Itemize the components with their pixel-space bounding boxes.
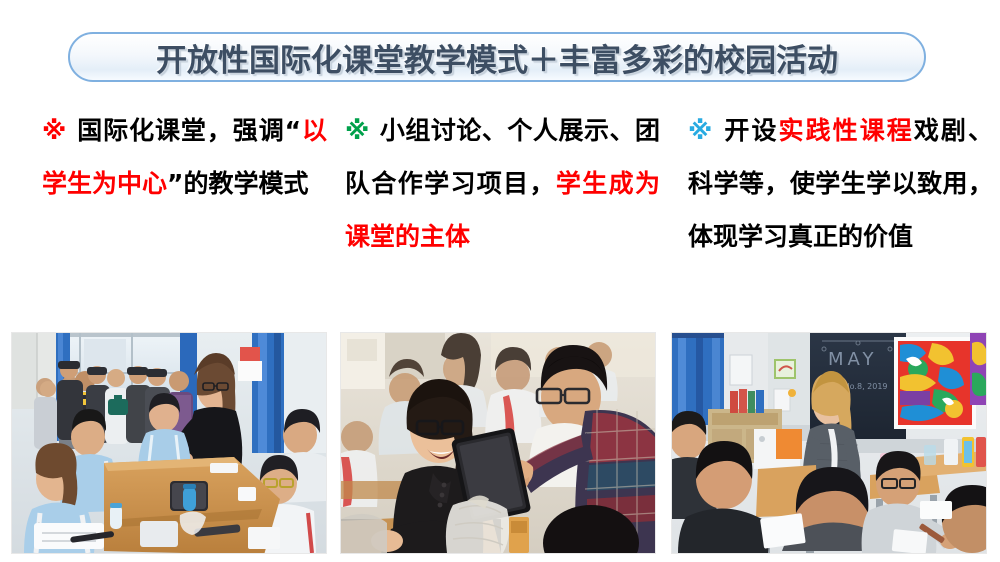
photo-student-presentation xyxy=(341,333,655,553)
title-banner: 开放性国际化课堂教学模式＋丰富多彩的校园活动 xyxy=(68,32,926,82)
bullet-segment-1-2: ”的教学模式 xyxy=(167,169,308,198)
bullet-segment-1-1: 国际化课堂，强调“ xyxy=(77,116,301,145)
bullet-segment-3-1: 开设 xyxy=(724,116,778,145)
reference-mark-icon-3: ※ xyxy=(688,116,714,145)
reference-mark-icon-1: ※ xyxy=(42,116,67,145)
bullet-text-2: ※小组讨论、个人展示、团队合作学习项目，学生成为课堂的主体 xyxy=(345,104,660,263)
bullet-text-3: ※开设实践性课程戏剧、科学等，使学生学以致用，体现学习真正的价值 xyxy=(688,104,993,263)
bullet-columns: ※国际化课堂，强调“以学生为中心”的教学模式 ※小组讨论、个人展示、团队合作学习… xyxy=(0,104,1000,324)
photo-practical-course: MAY Frid. No.8, 2019 xyxy=(672,333,986,553)
bullet-column-2: ※小组讨论、个人展示、团队合作学习项目，学生成为课堂的主体 xyxy=(345,104,660,263)
bullet-text-1: ※国际化课堂，强调“以学生为中心”的教学模式 xyxy=(42,104,327,210)
reference-mark-icon-2: ※ xyxy=(345,116,370,145)
bullet-column-1: ※国际化课堂，强调“以学生为中心”的教学模式 xyxy=(42,104,327,210)
page-title: 开放性国际化课堂教学模式＋丰富多彩的校园活动 xyxy=(156,35,838,80)
photo-international-classroom xyxy=(12,333,326,553)
svg-text:MAY: MAY xyxy=(828,349,877,370)
photo-captions: 中外教师与学生围坐长桌进行国际化课堂小组活动 学生微笑接过平板电脑，进行个人展示… xyxy=(0,0,1,1)
bullet-highlight-3: 实践性课程 xyxy=(779,116,914,145)
bullet-column-3: ※开设实践性课程戏剧、科学等，使学生学以致用，体现学习真正的价值 xyxy=(688,104,993,263)
photo-row: MAY Frid. No.8, 2019 xyxy=(0,333,1000,555)
